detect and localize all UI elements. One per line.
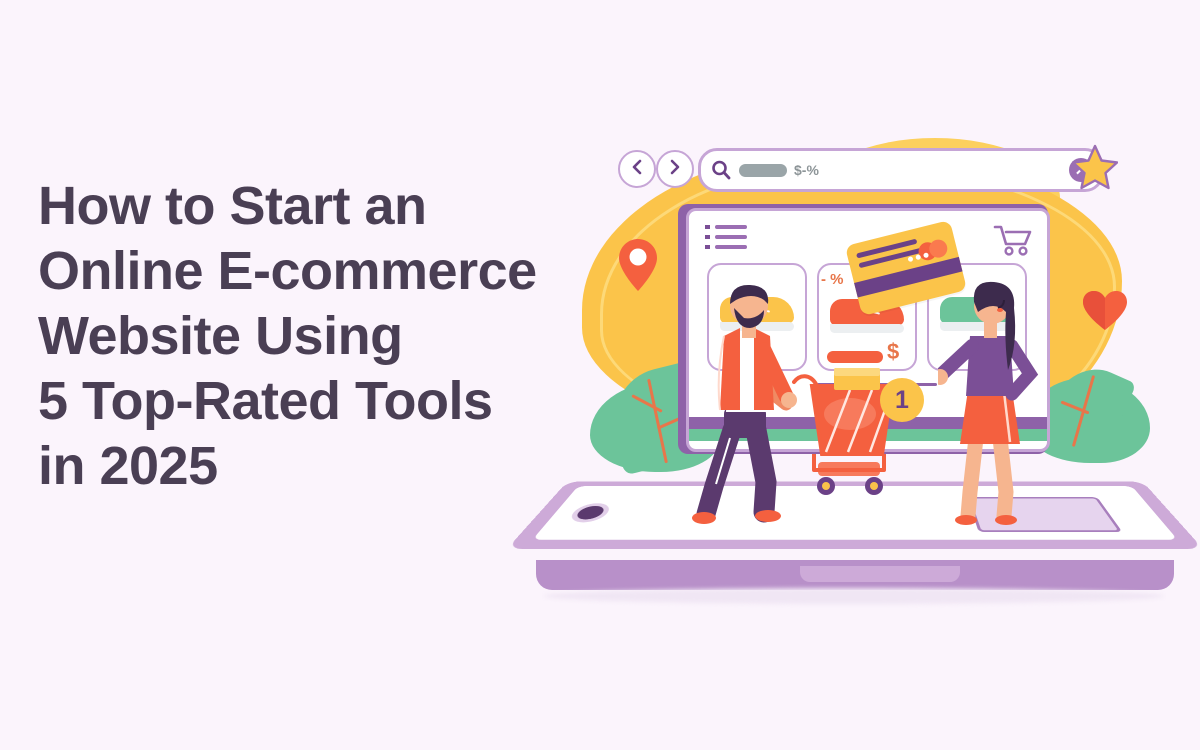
chevron-right-icon [668, 159, 682, 180]
woman-shopper [938, 278, 1048, 528]
heart-icon[interactable] [1082, 290, 1128, 332]
laptop-shadow [544, 588, 1164, 604]
ecommerce-blog-banner: How to Start an Online E-commerce Websit… [0, 0, 1200, 750]
price-symbol: $ [887, 339, 899, 365]
laptop-notch [800, 566, 960, 582]
page-title: How to Start an Online E-commerce Websit… [38, 174, 618, 499]
man-pushing-cart [690, 278, 810, 528]
chevron-left-icon [630, 159, 644, 180]
star-icon[interactable] [1072, 144, 1118, 190]
search-input[interactable]: $-% [794, 162, 819, 178]
location-pin-icon [618, 238, 658, 292]
search-bar[interactable]: $-% ✕ [698, 148, 1104, 192]
back-button[interactable] [618, 150, 656, 188]
price-placeholder-bar [827, 351, 883, 363]
discount-badge: - % [821, 271, 844, 288]
hero-illustration: - % $ [560, 120, 1200, 600]
shopping-cart-icon[interactable] [993, 223, 1033, 257]
bulleted-list-icon[interactable] [705, 225, 747, 255]
forward-button[interactable] [656, 150, 694, 188]
search-input-placeholder-pill[interactable] [739, 164, 787, 177]
magnifier-icon [711, 160, 731, 180]
cart-count-badge: 1 [880, 378, 924, 422]
